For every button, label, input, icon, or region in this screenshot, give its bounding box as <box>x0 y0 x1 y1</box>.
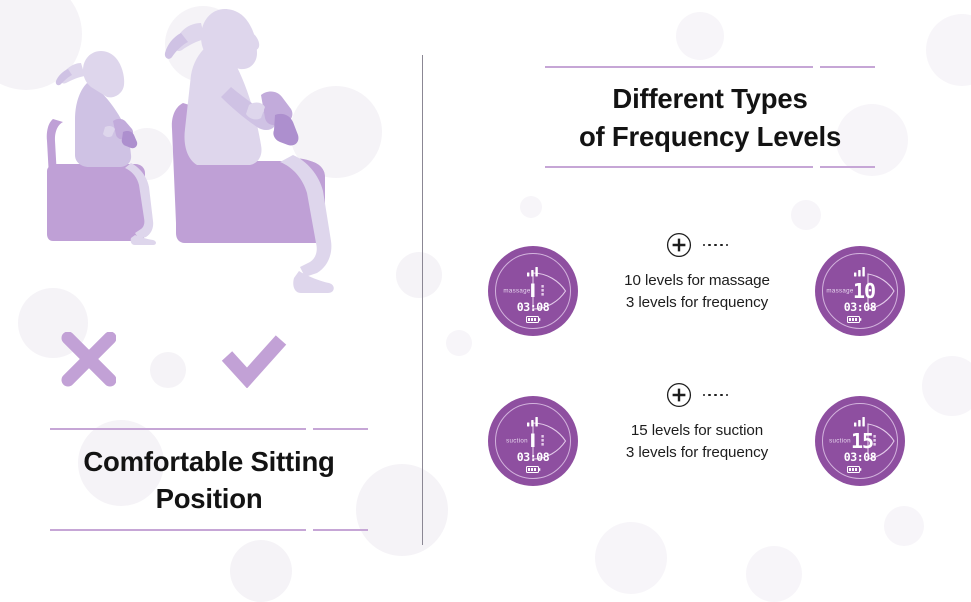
left-title-line-2: Position <box>50 480 368 517</box>
device-time: 03:08 <box>844 450 877 464</box>
plus-icon <box>666 232 692 258</box>
rule-long <box>545 166 813 168</box>
level-dots <box>541 435 543 446</box>
plus-connector <box>582 228 812 262</box>
right-page-title: Different Types of Frequency Levels <box>545 80 875 155</box>
check-mark-icon <box>221 334 287 388</box>
level-dots <box>541 285 543 296</box>
mode-label: massage <box>503 288 530 295</box>
massage-caption-line-1: 10 levels for massage <box>582 270 812 292</box>
title-rule-top <box>545 66 875 68</box>
suction-connector-block: 15 levels for suction 3 levels for frequ… <box>582 378 812 463</box>
suction-caption-line-2: 3 levels for frequency <box>582 442 812 464</box>
small-figure-wrong-posture <box>47 51 156 245</box>
rule-short <box>313 529 368 531</box>
rule-long <box>545 66 813 68</box>
device-time: 03:08 <box>844 300 877 314</box>
level-indicator-bar <box>531 434 534 448</box>
left-page-title: Comfortable Sitting Position <box>50 443 368 517</box>
massage-caption-line-2: 3 levels for frequency <box>582 292 812 314</box>
rule-long <box>50 529 306 531</box>
right-title-line-1: Different Types <box>545 80 875 118</box>
right-title-line-2: of Frequency Levels <box>545 118 875 156</box>
left-title-block: Comfortable Sitting Position <box>50 428 368 531</box>
title-rule-top <box>50 428 368 430</box>
posture-marks <box>60 332 310 392</box>
massage-connector-block: 10 levels for massage 3 levels for frequ… <box>582 228 812 313</box>
plus-icon <box>666 382 692 408</box>
cross-mark-icon <box>60 332 116 388</box>
infographic-canvas: Comfortable Sitting Position Different T… <box>0 0 971 600</box>
left-panel: Comfortable Sitting Position <box>0 0 422 600</box>
mode-label: suction <box>829 438 851 445</box>
sitting-position-illustration <box>35 5 390 345</box>
device-suction-level-15[interactable]: suction 15 03:08 <box>814 395 906 487</box>
level-dots <box>873 435 875 446</box>
mode-label: massage <box>826 288 853 295</box>
massage-row: massage 03:08 <box>422 228 971 378</box>
title-rule-bottom <box>545 166 875 168</box>
rule-short <box>313 428 368 430</box>
device-massage-level-1[interactable]: massage 03:08 <box>487 245 579 337</box>
suction-caption-line-1: 15 levels for suction <box>582 420 812 442</box>
massage-caption: 10 levels for massage 3 levels for frequ… <box>582 270 812 313</box>
rule-short <box>820 66 875 68</box>
title-rule-bottom <box>50 529 368 531</box>
dotted-connector <box>703 244 729 247</box>
right-panel: Different Types of Frequency Levels <box>422 0 971 600</box>
suction-caption: 15 levels for suction 3 levels for frequ… <box>582 420 812 463</box>
level-indicator-bar <box>531 284 534 298</box>
plus-connector <box>582 378 812 412</box>
left-title-line-1: Comfortable Sitting <box>50 443 368 480</box>
suction-row: suction 03:08 <box>422 378 971 528</box>
device-suction-level-1[interactable]: suction 03:08 <box>487 395 579 487</box>
device-time: 03:08 <box>517 450 550 464</box>
rule-long <box>50 428 306 430</box>
right-title-block: Different Types of Frequency Levels <box>545 66 875 168</box>
device-time: 03:08 <box>517 300 550 314</box>
dotted-connector <box>703 394 729 397</box>
large-figure-correct-posture <box>165 9 334 293</box>
rule-short <box>820 166 875 168</box>
device-massage-level-10[interactable]: massage 10 03:08 <box>814 245 906 337</box>
mode-label: suction <box>506 438 528 445</box>
